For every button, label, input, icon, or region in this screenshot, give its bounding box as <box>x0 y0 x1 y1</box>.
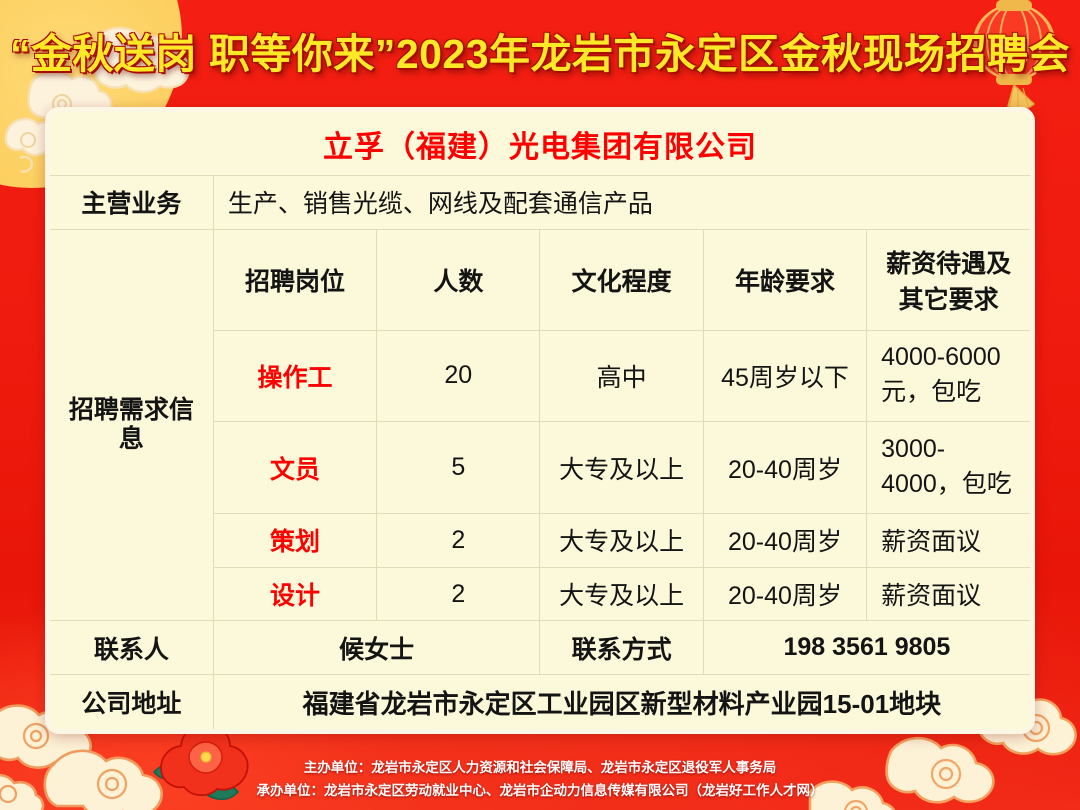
job-salary: 4000-6000元，包吃 <box>867 330 1030 422</box>
job-education: 大专及以上 <box>540 567 703 621</box>
demand-label-text: 招聘需求信息 <box>69 396 194 453</box>
job-education: 高中 <box>540 330 703 422</box>
job-education: 大专及以上 <box>540 513 703 567</box>
address-value: 福建省龙岩市永定区工业园区新型材料产业园15-01地块 <box>213 675 1030 729</box>
contact-label: 联系人 <box>50 621 213 675</box>
table-row-company: 立孚（福建）光电集团有限公司 <box>50 112 1030 176</box>
job-age: 20-40周岁 <box>703 567 866 621</box>
recruitment-table: 立孚（福建）光电集团有限公司 主营业务 生产、销售光缆、网线及配套通信产品 招聘… <box>50 112 1030 729</box>
job-position: 策划 <box>213 513 376 567</box>
job-age: 20-40周岁 <box>703 513 866 567</box>
job-position: 设计 <box>213 567 376 621</box>
job-count: 2 <box>377 513 540 567</box>
poster-root: “金秋送岗 职等你来”2023年龙岩市永定区金秋现场招聘会 立孚（福建）光电集团… <box>0 0 1080 810</box>
address-label: 公司地址 <box>50 675 213 729</box>
phone-label: 联系方式 <box>540 621 703 675</box>
column-header-count: 人数 <box>377 229 540 330</box>
job-salary: 3000-4000，包吃 <box>867 422 1030 514</box>
table-row-address: 公司地址 福建省龙岩市永定区工业园区新型材料产业园15-01地块 <box>50 675 1030 729</box>
phone-value: 198 3561 9805 <box>703 621 1030 675</box>
job-age: 20-40周岁 <box>703 422 866 514</box>
job-count: 20 <box>377 330 540 422</box>
footer: 主办单位：龙岩市永定区人力资源和社会保障局、龙岩市永定区退役军人事务局 承办单位… <box>0 756 1080 802</box>
job-salary: 薪资面议 <box>867 513 1030 567</box>
job-count: 2 <box>377 567 540 621</box>
demand-label: 招聘需求信息 <box>50 229 213 621</box>
column-header-position: 招聘岗位 <box>213 229 376 330</box>
job-count: 5 <box>377 422 540 514</box>
company-name: 立孚（福建）光电集团有限公司 <box>50 112 1030 176</box>
footer-organizer: 主办单位：龙岩市永定区人力资源和社会保障局、龙岩市永定区退役军人事务局 <box>0 756 1080 779</box>
column-header-education: 文化程度 <box>540 229 703 330</box>
table-row-header: 招聘需求信息 招聘岗位 人数 文化程度 年龄要求 薪资待遇及其它要求 <box>50 229 1030 330</box>
recruitment-table-card: 立孚（福建）光电集团有限公司 主营业务 生产、销售光缆、网线及配套通信产品 招聘… <box>45 107 1035 734</box>
job-education: 大专及以上 <box>540 422 703 514</box>
business-value: 生产、销售光缆、网线及配套通信产品 <box>213 176 1030 230</box>
footer-coorganizer: 承办单位：龙岩市永定区劳动就业中心、龙岩市企动力信息传媒有限公司（龙岩好工作人才… <box>0 779 1080 802</box>
job-position: 文员 <box>213 422 376 514</box>
job-position: 操作工 <box>213 330 376 422</box>
table-row-contact: 联系人 候女士 联系方式 198 3561 9805 <box>50 621 1030 675</box>
table-row-business: 主营业务 生产、销售光缆、网线及配套通信产品 <box>50 176 1030 230</box>
job-salary: 薪资面议 <box>867 567 1030 621</box>
column-header-salary: 薪资待遇及其它要求 <box>867 229 1030 330</box>
business-label: 主营业务 <box>50 176 213 230</box>
contact-name: 候女士 <box>213 621 540 675</box>
job-age: 45周岁以下 <box>703 330 866 422</box>
page-title: “金秋送岗 职等你来”2023年龙岩市永定区金秋现场招聘会 <box>0 20 1080 80</box>
column-header-age: 年龄要求 <box>703 229 866 330</box>
